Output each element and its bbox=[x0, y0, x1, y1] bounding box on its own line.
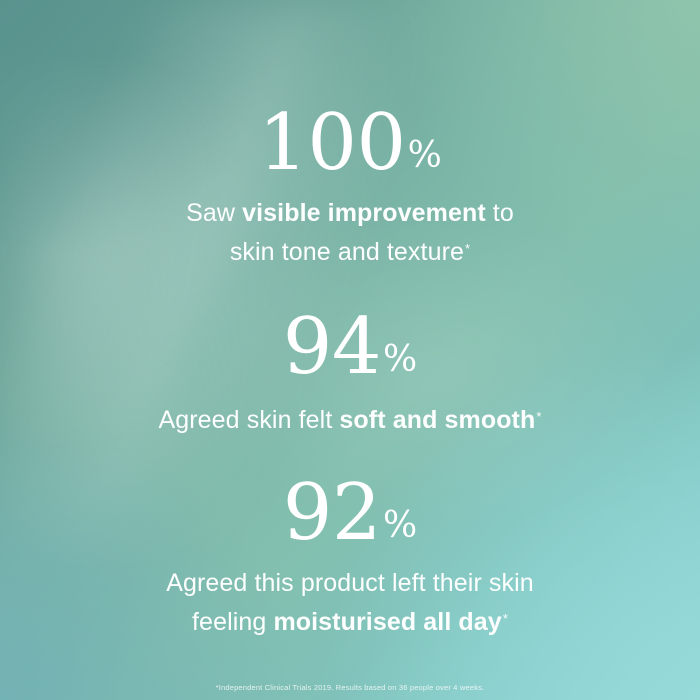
stat-value-2: 94 bbox=[283, 302, 381, 392]
percent-symbol-1: % bbox=[408, 135, 442, 176]
stat-value-3: 92 bbox=[283, 468, 381, 558]
stat-text-post: to bbox=[486, 199, 514, 227]
stat-block-2: 94% Agreed skin felt soft and smooth* bbox=[0, 308, 700, 439]
stat-description-1: Saw visible improvement to skin tone and… bbox=[0, 196, 700, 270]
footnote-asterisk: * bbox=[536, 409, 541, 424]
stat-number-2: 94% bbox=[0, 308, 700, 388]
percent-symbol-2: % bbox=[383, 339, 417, 380]
stat-number-1: 100% bbox=[0, 104, 700, 184]
footnote-asterisk: * bbox=[503, 611, 508, 626]
stat-text-bold: moisturised all day bbox=[273, 608, 501, 636]
footnote-disclaimer: *Independent Clinical Trials 2019. Resul… bbox=[0, 683, 700, 692]
stat-line: skin tone and texture* bbox=[0, 231, 700, 270]
stat-block-1: 100% Saw visible improvement to skin ton… bbox=[0, 104, 700, 270]
stat-description-3: Agreed this product left their skin feel… bbox=[0, 566, 700, 640]
stat-text-pre: skin tone and texture bbox=[230, 238, 464, 266]
stat-text-bold: soft and smooth bbox=[339, 406, 535, 434]
stat-line: feeling moisturised all day* bbox=[0, 601, 700, 640]
stat-value-1: 100 bbox=[258, 98, 405, 188]
stat-block-3: 92% Agreed this product left their skin … bbox=[0, 474, 700, 640]
stat-line: Agreed this product left their skin bbox=[0, 566, 700, 601]
stat-line: Agreed skin felt soft and smooth* bbox=[0, 399, 700, 438]
stat-text-pre: Agreed this product left their skin bbox=[166, 569, 534, 597]
stats-content: 100% Saw visible improvement to skin ton… bbox=[0, 0, 700, 700]
stat-line: Saw visible improvement to bbox=[0, 196, 700, 231]
footnote-asterisk: * bbox=[465, 241, 470, 256]
stat-text-pre: Agreed skin felt bbox=[158, 406, 339, 434]
stat-text-pre: feeling bbox=[192, 608, 273, 636]
stat-description-2: Agreed skin felt soft and smooth* bbox=[0, 399, 700, 438]
stat-number-3: 92% bbox=[0, 474, 700, 554]
percent-symbol-3: % bbox=[383, 505, 417, 546]
stat-text-bold: visible improvement bbox=[242, 199, 486, 227]
stat-poster: 100% Saw visible improvement to skin ton… bbox=[0, 0, 700, 700]
stat-text-pre: Saw bbox=[186, 199, 242, 227]
